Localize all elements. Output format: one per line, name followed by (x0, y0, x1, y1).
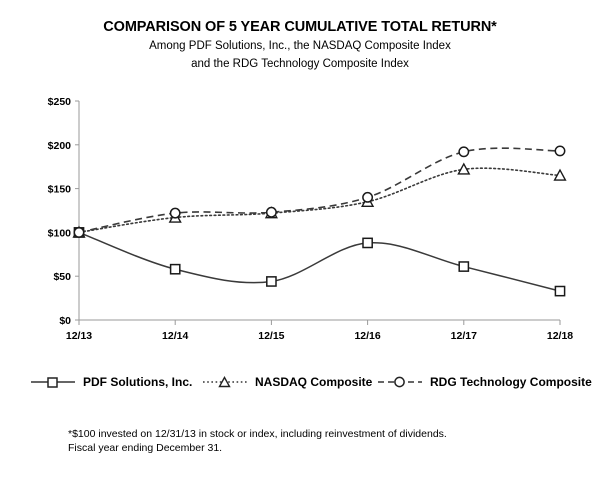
footnote-line-1: *$100 invested on 12/31/13 in stock or i… (68, 428, 568, 442)
x-axis-tick-label: 12/13 (66, 330, 92, 342)
series-square (74, 228, 564, 296)
circle-marker-icon (377, 374, 423, 390)
y-axis-tick-label: $50 (53, 271, 71, 283)
triangle-marker-icon (202, 374, 248, 390)
series-line (79, 232, 560, 291)
footnote: *$100 invested on 12/31/13 in stock or i… (68, 428, 568, 455)
legend-item-nasdaq-composite: NASDAQ Composite (202, 371, 372, 393)
legend-label: PDF Solutions, Inc. (83, 375, 192, 389)
data-point-marker (363, 193, 372, 202)
x-axis-tick-label: 12/18 (547, 330, 573, 342)
data-point-marker (459, 147, 468, 156)
data-point-marker (459, 262, 468, 271)
y-axis-tick-label: $150 (48, 184, 72, 196)
legend-label: RDG Technology Composite (430, 375, 592, 389)
data-point-marker (363, 238, 372, 247)
series-layer (74, 146, 566, 295)
y-axis-tick-label: $200 (48, 140, 72, 152)
series-circle (74, 146, 564, 237)
x-axis-tick-label: 12/15 (258, 330, 284, 342)
x-axis-tick-label: 12/16 (354, 330, 380, 342)
square-marker-icon (30, 374, 76, 390)
data-point-marker (171, 208, 180, 217)
legend-label: NASDAQ Composite (255, 375, 372, 389)
y-axis-tick-label: $250 (48, 96, 72, 108)
data-point-marker (74, 228, 83, 237)
data-point-marker (267, 277, 276, 286)
footnote-line-2: Fiscal year ending December 31. (68, 442, 568, 456)
x-axis-tick-label: 12/14 (162, 330, 188, 342)
data-point-marker (555, 146, 564, 155)
y-axis-tick-label: $0 (59, 315, 71, 327)
chart-legend: PDF Solutions, Inc. NASDAQ Composite RDG… (0, 371, 600, 393)
data-point-marker (267, 208, 276, 217)
plot-area: $0$50$100$150$200$25012/1312/1412/1512/1… (0, 0, 600, 481)
series-line (79, 168, 560, 232)
legend-item-rdg-technology-composite: RDG Technology Composite (377, 371, 592, 393)
series-triangle (74, 164, 566, 237)
stock-performance-chart: COMPARISON OF 5 YEAR CUMULATIVE TOTAL RE… (0, 0, 600, 481)
data-point-marker (555, 286, 564, 295)
data-point-marker (171, 265, 180, 274)
series-line (79, 148, 560, 232)
x-axis-tick-label: 12/17 (451, 330, 477, 342)
y-axis-tick-label: $100 (48, 227, 72, 239)
axis-layer: $0$50$100$150$200$25012/1312/1412/1512/1… (48, 96, 574, 342)
legend-item-pdf-solutions: PDF Solutions, Inc. (30, 371, 192, 393)
